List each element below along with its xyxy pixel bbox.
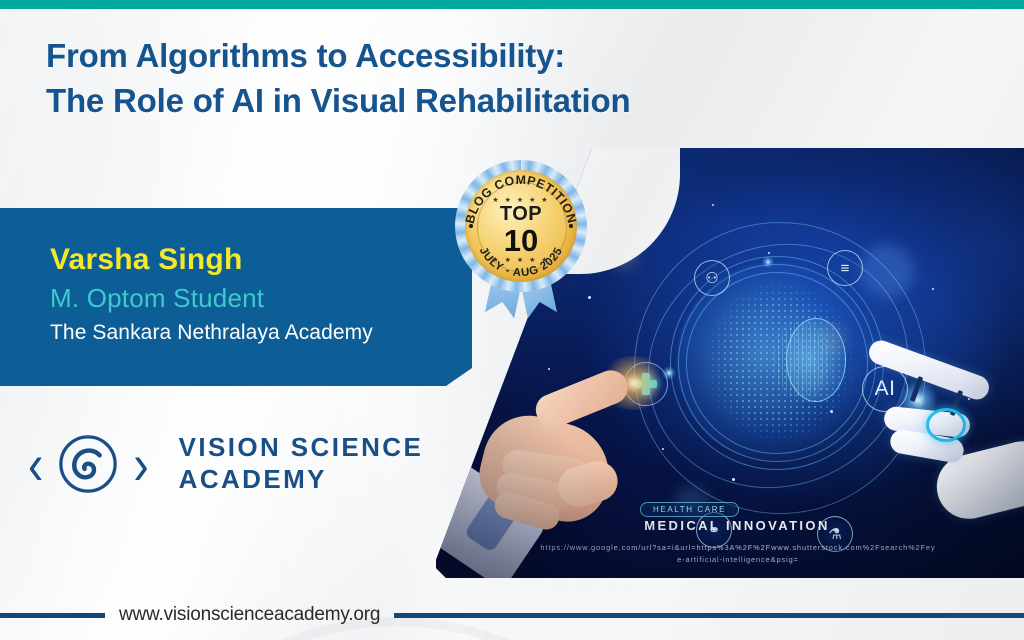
badge-center: ★ ★ ★ ★ ★ TOP 10 ★ ★ ★ ★ ★ [477,196,565,260]
title-line-2: The Role of AI in Visual Rehabilitation [46,79,806,124]
badge-rank-number: 10 [477,225,565,256]
footer: www.visionscienceacademy.org [0,600,1024,630]
badge-top-word: TOP [477,204,565,224]
footer-rule-left [0,613,105,618]
bracket-right-icon: › [133,435,148,493]
footer-rule-right [394,613,1024,618]
footer-website-url[interactable]: www.visionscienceacademy.org [105,604,394,626]
vision-spiral-icon [57,433,119,495]
poster-canvas: From Algorithms to Accessibility: The Ro… [0,0,1024,640]
speaker-name: Varsha Singh [50,240,470,280]
academy-logo: ‹ › VISION SCIENCE ACADEMY [28,432,423,495]
bracket-left-icon: ‹ [28,435,43,493]
speaker-organization: The Sankara Nethralaya Academy [50,317,470,349]
top-accent-bar [0,0,1024,9]
logo-wordmark: VISION SCIENCE ACADEMY [179,432,424,495]
award-badge: BLOG COMPETITION JULY - AUG 2025 ★ ★ ★ ★… [447,158,595,326]
page-title: From Algorithms to Accessibility: The Ro… [46,34,806,124]
speaker-details: Varsha Singh M. Optom Student The Sankar… [50,240,470,348]
logo-line-1: VISION SCIENCE [179,432,424,462]
logo-line-2: ACADEMY [179,464,424,496]
badge-stars-bottom: ★ ★ ★ ★ ★ [477,256,565,264]
speaker-role: M. Optom Student [50,280,470,317]
title-line-1: From Algorithms to Accessibility: [46,37,565,74]
